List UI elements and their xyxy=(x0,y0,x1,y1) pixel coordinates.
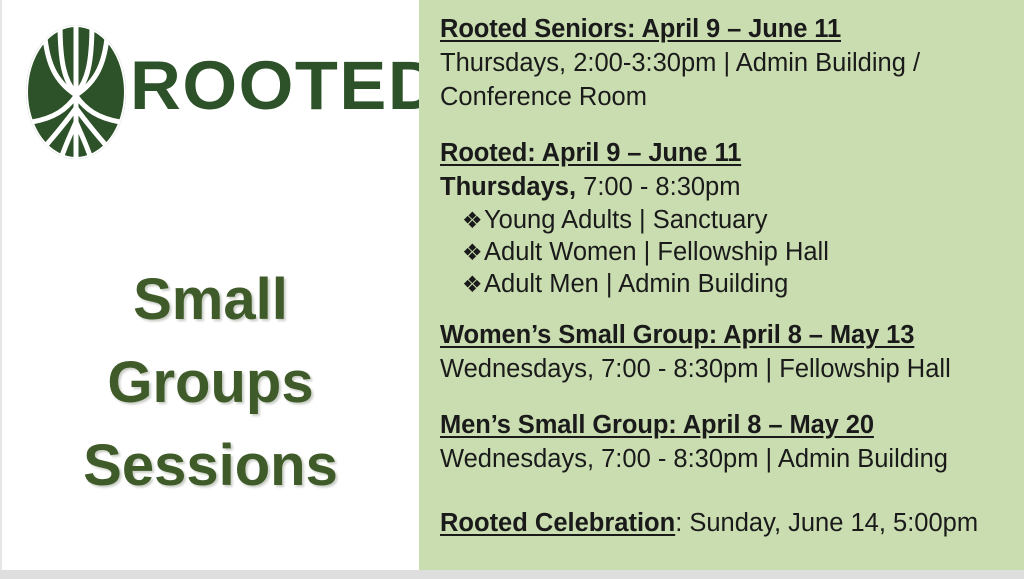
list-item: ❖Adult Men | Admin Building xyxy=(440,268,1015,300)
celebration-line: Rooted Celebration: Sunday, June 14, 5:0… xyxy=(440,506,1015,540)
schedule-detail: Wednesdays, 7:00 - 8:30pm | Fellowship H… xyxy=(440,352,1015,386)
headline-line-1: Small xyxy=(2,258,419,341)
presentation-slide: ROOTED Small Groups Sessions Rooted Seni… xyxy=(0,0,1024,570)
slide-headline: Small Groups Sessions xyxy=(2,258,419,507)
list-item-label: Adult Men | Admin Building xyxy=(484,270,788,298)
celebration-label: Rooted Celebration xyxy=(440,509,675,537)
list-item: ❖Adult Women | Fellowship Hall xyxy=(440,236,1015,268)
schedule-heading: Rooted Seniors: April 9 – June 11 xyxy=(440,12,1015,46)
schedule-detail-time: 7:00 - 8:30pm xyxy=(576,173,740,201)
schedule-detail: Wednesdays, 7:00 - 8:30pm | Admin Buildi… xyxy=(440,442,1015,476)
diamond-bullet-icon: ❖ xyxy=(462,204,484,236)
schedule-block-rooted-seniors: Rooted Seniors: April 9 – June 11 Thursd… xyxy=(440,12,1015,114)
rooted-tree-roots-oval-mark-icon xyxy=(20,22,132,162)
block-spacer xyxy=(440,114,1015,136)
list-item-label: Adult Women | Fellowship Hall xyxy=(484,238,829,266)
diamond-bullet-icon: ❖ xyxy=(462,268,484,300)
diamond-bullet-icon: ❖ xyxy=(462,236,484,268)
schedule-heading: Rooted: April 9 – June 11 xyxy=(440,136,1015,170)
block-spacer xyxy=(440,476,1015,506)
schedule-heading: Men’s Small Group: April 8 – May 20 xyxy=(440,408,1015,442)
block-spacer xyxy=(440,300,1015,318)
schedule-detail: Thursdays, 2:00-3:30pm | Admin Building … xyxy=(440,46,1015,80)
schedule-list: Rooted Seniors: April 9 – June 11 Thursd… xyxy=(440,12,1015,540)
list-item-label: Young Adults | Sanctuary xyxy=(484,206,768,234)
schedule-block-womens-small-group: Women’s Small Group: April 8 – May 13 We… xyxy=(440,318,1015,386)
schedule-detail: Conference Room xyxy=(440,80,1015,114)
schedule-detail: Thursdays, 7:00 - 8:30pm xyxy=(440,170,1015,204)
schedule-block-rooted-celebration: Rooted Celebration: Sunday, June 14, 5:0… xyxy=(440,506,1015,540)
headline-line-2: Groups xyxy=(2,341,419,424)
rooted-wordmark: ROOTED xyxy=(130,49,440,123)
schedule-block-rooted: Rooted: April 9 – June 11 Thursdays, 7:0… xyxy=(440,136,1015,300)
rooted-group-list: ❖Young Adults | Sanctuary ❖Adult Women |… xyxy=(440,204,1015,300)
schedule-heading: Women’s Small Group: April 8 – May 13 xyxy=(440,318,1015,352)
bottom-gray-band xyxy=(0,570,1024,579)
celebration-details: : Sunday, June 14, 5:00pm xyxy=(675,509,978,537)
schedule-block-mens-small-group: Men’s Small Group: April 8 – May 20 Wedn… xyxy=(440,408,1015,476)
headline-line-3: Sessions xyxy=(2,424,419,507)
right-schedule-panel: Rooted Seniors: April 9 – June 11 Thursd… xyxy=(419,0,1024,570)
list-item: ❖Young Adults | Sanctuary xyxy=(440,204,1015,236)
logo-lockup: ROOTED xyxy=(20,22,410,162)
block-spacer xyxy=(440,386,1015,408)
left-branding-panel: ROOTED Small Groups Sessions xyxy=(2,0,419,570)
schedule-detail-day: Thursdays, xyxy=(440,173,576,201)
